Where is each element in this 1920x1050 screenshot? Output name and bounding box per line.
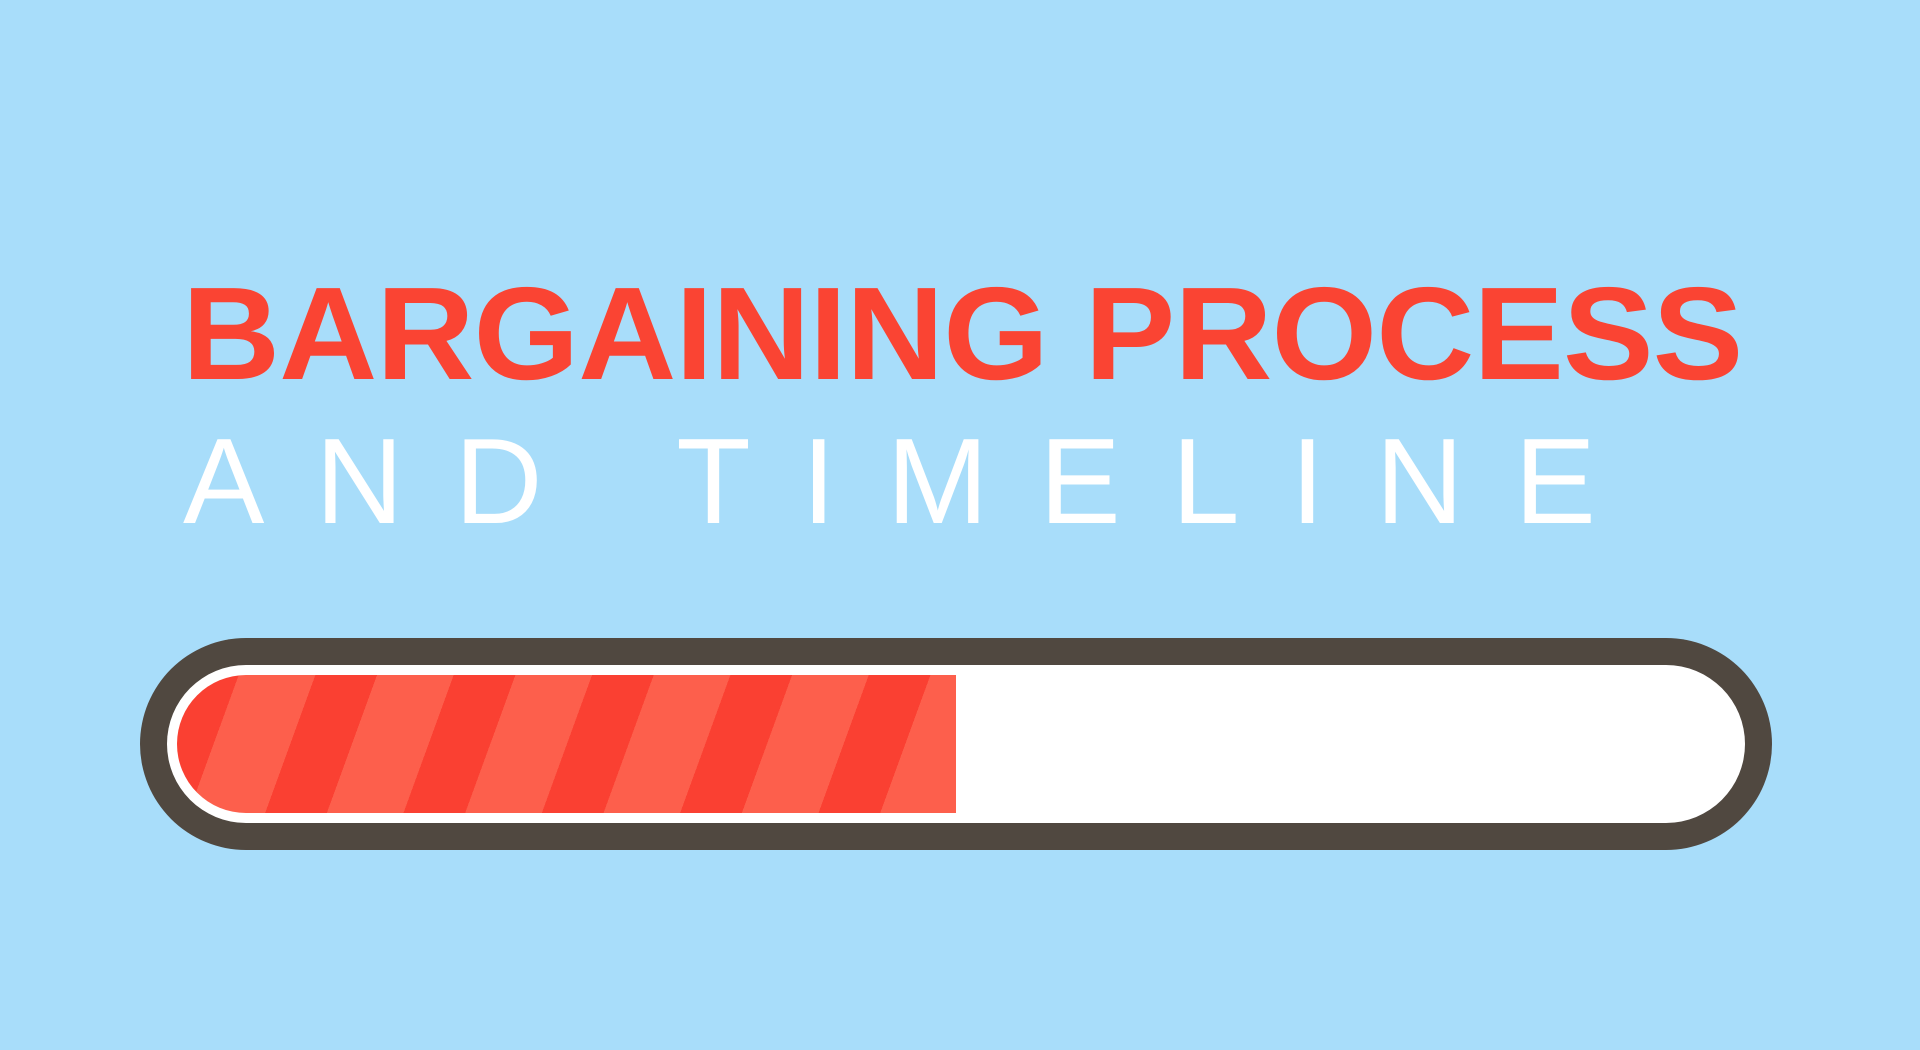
progress-bar: [140, 638, 1772, 850]
progress-bar-fill: [177, 675, 956, 813]
slide-canvas: BARGAINING PROCESS AND TIMELINE: [0, 0, 1920, 1050]
page-title: BARGAINING PROCESS: [182, 268, 1789, 400]
progress-bar-track: [167, 665, 1745, 823]
page-subtitle: AND TIMELINE: [183, 420, 1783, 542]
